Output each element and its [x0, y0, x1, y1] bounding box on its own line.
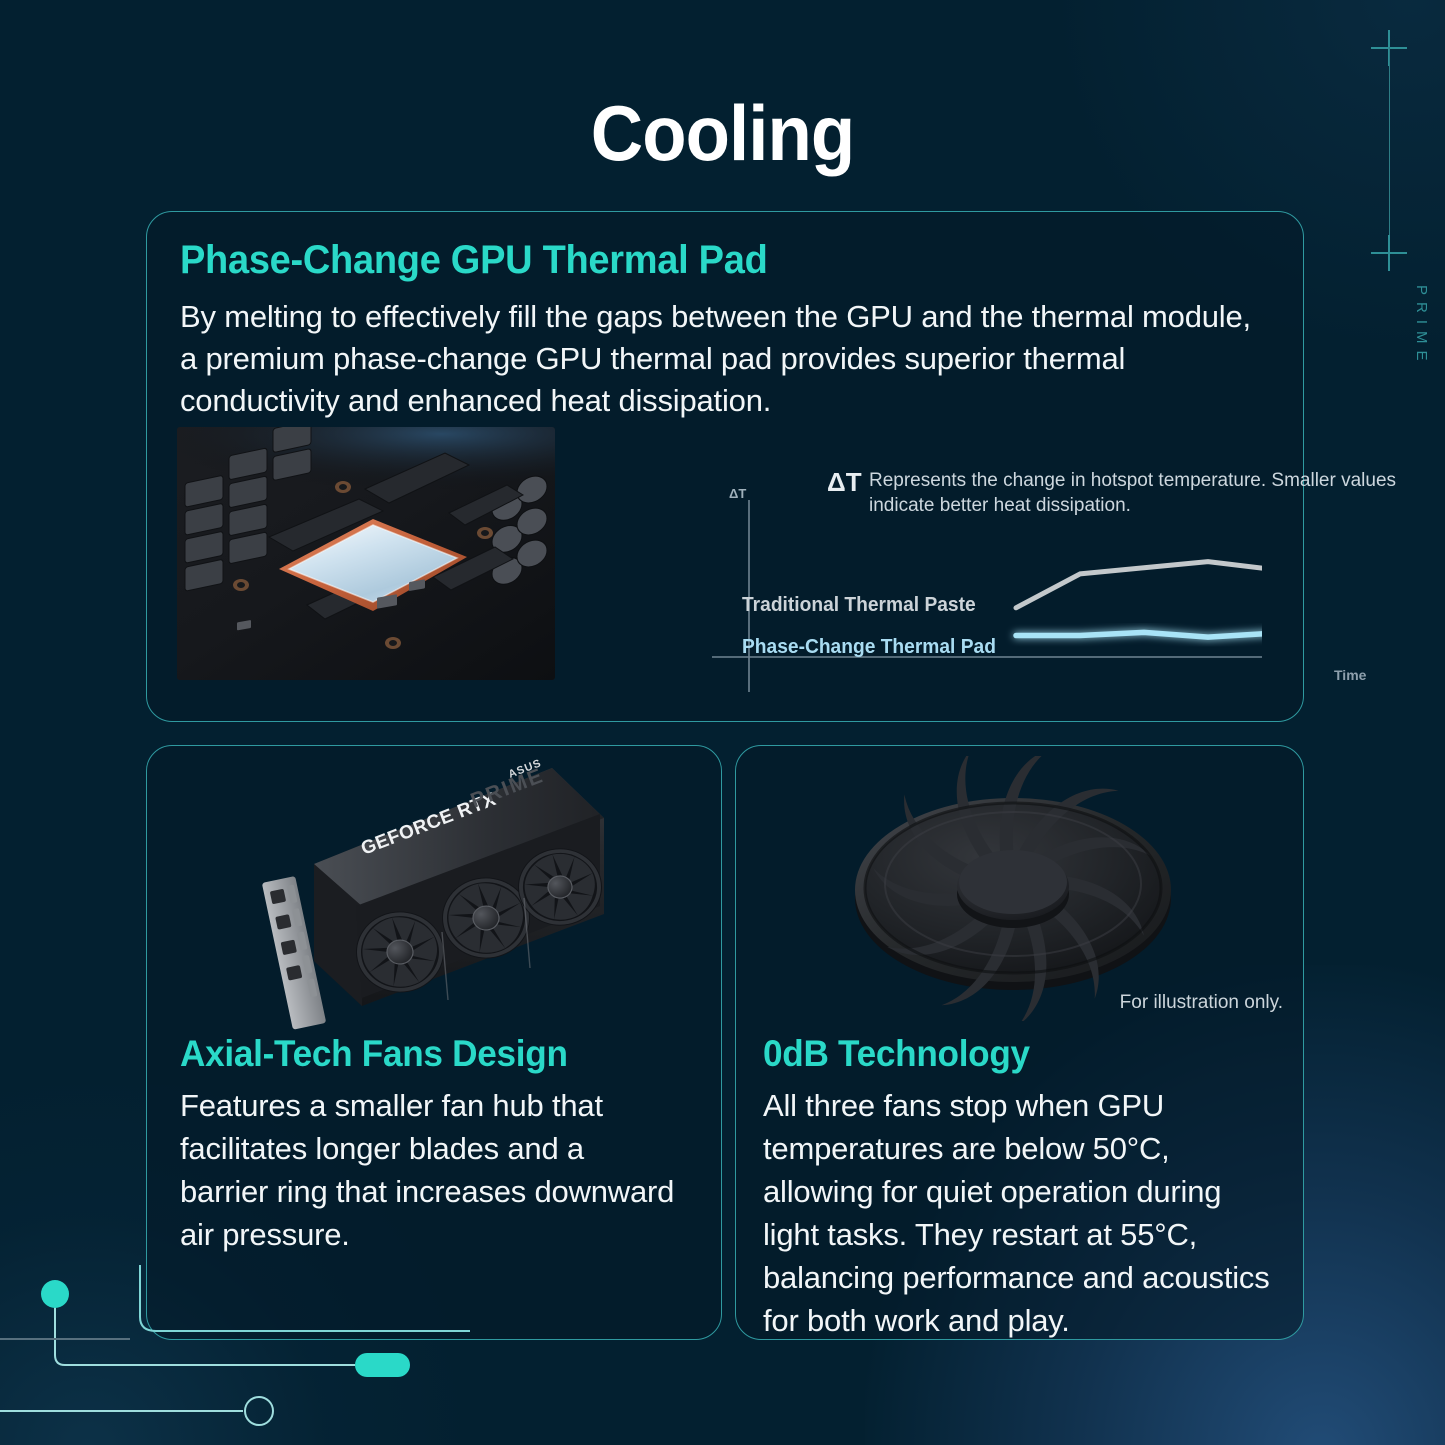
- trace-dot-filled: [41, 1280, 69, 1308]
- card-body-0db-technology: All three fans stop when GPU temperature…: [763, 1084, 1283, 1342]
- card-heading-thermal-pad: Phase-Change GPU Thermal Pad: [180, 238, 768, 283]
- legend-traditional-thermal-paste: Traditional Thermal Paste: [742, 594, 976, 617]
- illustration-footnote: For illustration only.: [1120, 992, 1283, 1014]
- gpu-thermal-pad-photo: [177, 427, 555, 680]
- thermal-comparison-chart: ΔT Represents the change in hotspot temp…: [562, 442, 1262, 692]
- delta-t-badge: ΔT: [827, 467, 862, 498]
- prime-brand-label: PRIME: [1360, 285, 1430, 368]
- card-axial-tech-fans: GEFORCE RTX PRIME ASUS Axial-Tech Fans D…: [146, 745, 722, 1340]
- graphics-card-photo: GEFORCE RTX PRIME ASUS: [252, 756, 612, 1041]
- card-heading-axial-tech-fans: Axial-Tech Fans Design: [180, 1033, 568, 1075]
- chart-y-axis-label: ΔT: [729, 486, 746, 501]
- plus-mark-icon: [1371, 235, 1407, 271]
- chart-series-phase-change-thermal-pad: [1016, 632, 1262, 637]
- card-body-thermal-pad: By melting to effectively fill the gaps …: [180, 296, 1270, 422]
- chart-x-axis-label: Time: [1334, 667, 1366, 683]
- trace-ring-hollow: [245, 1397, 273, 1425]
- card-0db-technology: For illustration only. 0dB Technology Al…: [735, 745, 1304, 1340]
- card-heading-0db-technology: 0dB Technology: [763, 1033, 1030, 1075]
- plus-mark-icon: [1371, 30, 1407, 66]
- trace-pill: [355, 1353, 410, 1377]
- axial-fan-illustration: [841, 756, 1186, 1021]
- legend-phase-change-thermal-pad: Phase-Change Thermal Pad: [742, 636, 996, 659]
- poster-canvas: PRIME Cooling Phase-Change GPU Thermal P…: [0, 0, 1445, 1445]
- card-phase-change-thermal-pad: Phase-Change GPU Thermal Pad By melting …: [146, 211, 1304, 722]
- card-body-axial-tech-fans: Features a smaller fan hub that facilita…: [180, 1084, 680, 1256]
- delta-t-note: Represents the change in hotspot tempera…: [869, 468, 1399, 518]
- chart-series-traditional-thermal-paste: [1016, 555, 1262, 607]
- page-title: Cooling: [51, 88, 1395, 179]
